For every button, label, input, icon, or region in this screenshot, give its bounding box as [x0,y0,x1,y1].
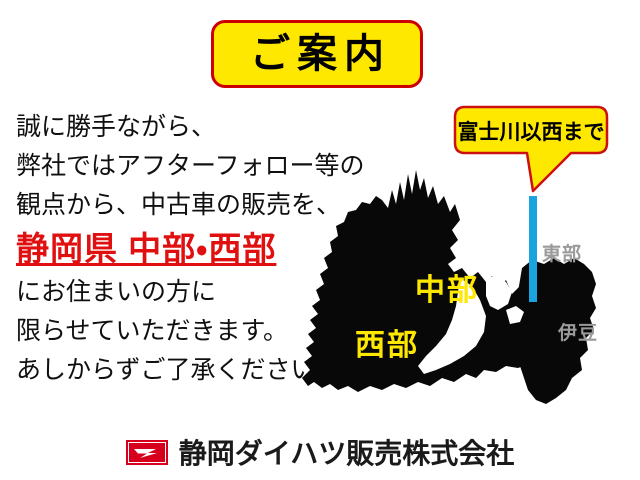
company-name: 静岡ダイハツ販売株式会社 [179,432,514,472]
shizuoka-map: 中部 西部 東部 伊豆 [300,160,640,420]
callout-label: 富士川以西まで [453,116,609,146]
notice-line-1: 誠に勝手ながら、 [16,108,366,147]
shizuoka-map-silhouette [300,160,640,420]
title-banner: ご案内 [211,20,423,88]
fujikawa-boundary-line [529,196,537,302]
daihatsu-logo-icon [126,440,168,465]
notice-poster: ご案内 誠に勝手ながら、 弊社ではアフターフォロー等の 観点から、中古車の販売を… [0,0,640,480]
callout-bubble: 富士川以西まで [453,105,609,195]
page-title: ご案内 [243,34,391,74]
footer-brand-bar: 静岡ダイハツ販売株式会社 [0,432,640,472]
